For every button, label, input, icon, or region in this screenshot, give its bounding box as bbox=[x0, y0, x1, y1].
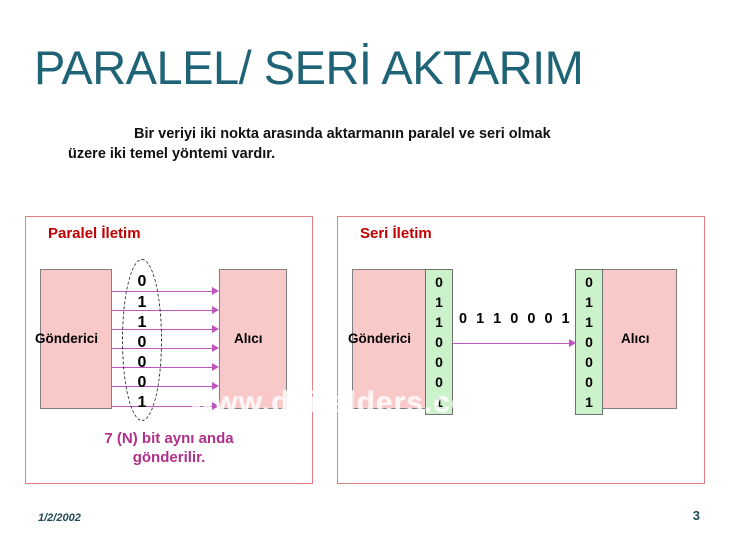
parallel-transmission-panel: Paralel İletim Gönderici Alıcı 0 1 1 0 0… bbox=[25, 216, 313, 484]
serial-receiver-bit-0: 0 bbox=[585, 274, 593, 290]
parallel-arrow-head-3 bbox=[212, 325, 219, 333]
parallel-receiver-label: Alıcı bbox=[234, 331, 263, 346]
parallel-arrow-head-6 bbox=[212, 382, 219, 390]
serial-sender-bit-6: 1 bbox=[435, 394, 443, 410]
serial-receiver-bit-4: 0 bbox=[585, 354, 593, 370]
serial-receiver-bit-6: 1 bbox=[585, 394, 593, 410]
serial-stream-label: 0 1 1 0 0 0 1 bbox=[459, 311, 572, 327]
parallel-panel-title: Paralel İletim bbox=[48, 225, 141, 242]
footer-date: 1/2/2002 bbox=[38, 512, 81, 524]
serial-sender-bit-column: 0 1 1 0 0 0 1 bbox=[425, 269, 453, 415]
parallel-sender-label: Gönderici bbox=[35, 331, 98, 346]
page-title: PARALEL/ SERİ AKTARIM bbox=[34, 42, 583, 94]
parallel-bit-5: 0 bbox=[135, 374, 149, 392]
footer-page-number: 3 bbox=[693, 508, 700, 523]
body-paragraph: Bir veriyi iki nokta arasında aktarmanın… bbox=[68, 124, 588, 164]
serial-receiver-bit-column: 0 1 1 0 0 0 1 bbox=[575, 269, 603, 415]
serial-receiver-bit-5: 0 bbox=[585, 374, 593, 390]
serial-receiver-bit-2: 1 bbox=[585, 314, 593, 330]
slide-canvas: PARALEL/ SERİ AKTARIM Bir veriyi iki nok… bbox=[0, 0, 730, 547]
parallel-bit-2: 1 bbox=[135, 314, 149, 332]
serial-sender-label: Gönderici bbox=[348, 331, 411, 346]
serial-arrow-head bbox=[569, 339, 576, 347]
serial-sender-bit-4: 0 bbox=[435, 354, 443, 370]
serial-receiver-bit-3: 0 bbox=[585, 334, 593, 350]
parallel-arrow-head-5 bbox=[212, 363, 219, 371]
serial-arrow-line bbox=[453, 343, 572, 344]
serial-sender-bit-0: 0 bbox=[435, 274, 443, 290]
serial-receiver-bit-1: 1 bbox=[585, 294, 593, 310]
parallel-bit-0: 0 bbox=[135, 273, 149, 291]
parallel-arrow-line-7 bbox=[112, 406, 215, 407]
parallel-arrow-head-1 bbox=[212, 287, 219, 295]
serial-transmission-panel: Seri İletim Gönderici Alıcı 0 1 1 0 0 0 … bbox=[337, 216, 705, 484]
serial-sender-bit-1: 1 bbox=[435, 294, 443, 310]
serial-receiver-label: Alıcı bbox=[621, 331, 650, 346]
serial-sender-bit-5: 0 bbox=[435, 374, 443, 390]
parallel-bit-1: 1 bbox=[135, 294, 149, 312]
serial-sender-bit-2: 1 bbox=[435, 314, 443, 330]
parallel-arrow-head-7 bbox=[212, 402, 219, 410]
parallel-bit-4: 0 bbox=[135, 354, 149, 372]
serial-panel-title: Seri İletim bbox=[360, 225, 432, 242]
parallel-arrow-head-2 bbox=[212, 306, 219, 314]
parallel-bit-3: 0 bbox=[135, 334, 149, 352]
parallel-arrow-head-4 bbox=[212, 344, 219, 352]
body-paragraph-line-1: Bir veriyi iki nokta arasında aktarmanın… bbox=[68, 126, 505, 142]
parallel-caption-line-1: 7 (N) bit aynı anda bbox=[26, 429, 312, 448]
parallel-caption-line-2: gönderilir. bbox=[26, 448, 312, 467]
parallel-bit-6: 1 bbox=[135, 394, 149, 412]
serial-sender-bit-3: 0 bbox=[435, 334, 443, 350]
parallel-caption: 7 (N) bit aynı anda gönderilir. bbox=[26, 429, 312, 467]
